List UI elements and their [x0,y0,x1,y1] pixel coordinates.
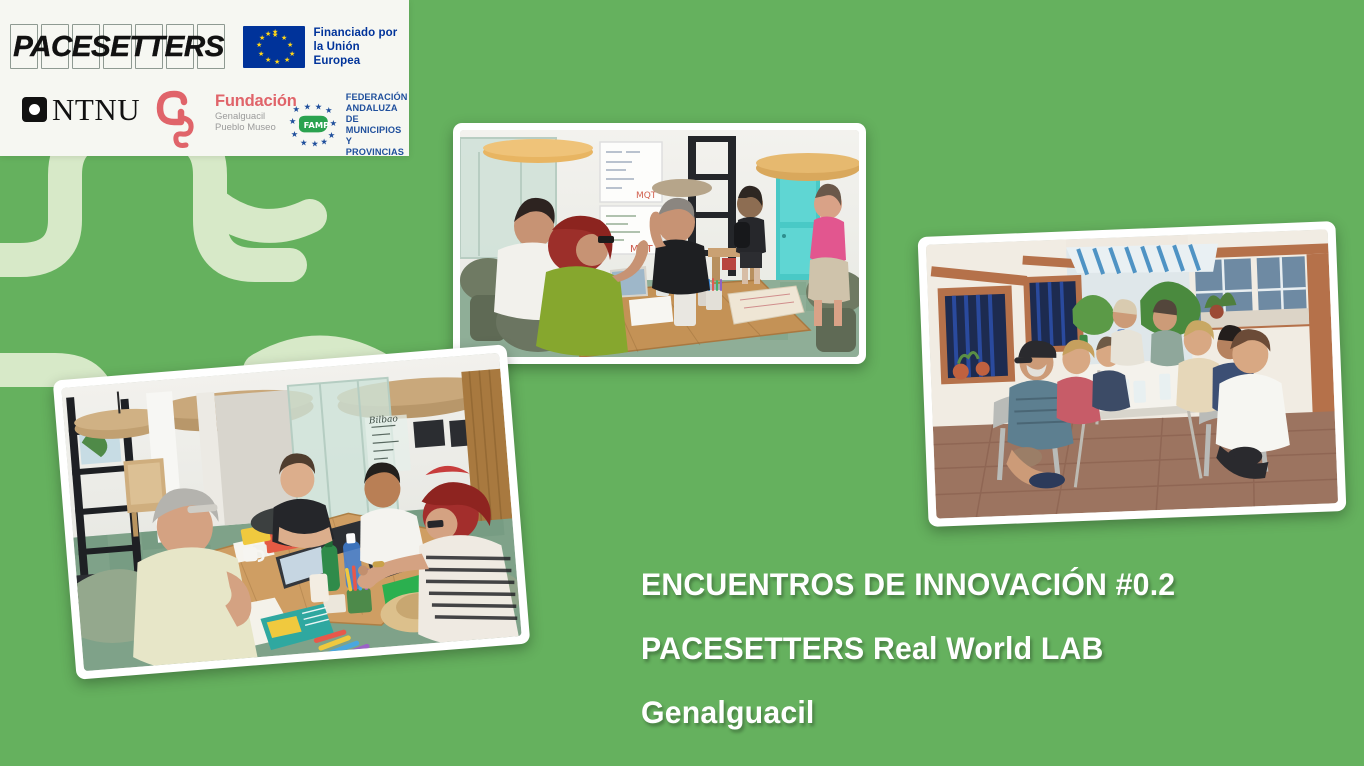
svg-text:★: ★ [330,118,337,128]
eu-funding-logo: ★ ★ ★ ★ ★ ★ ★ ★ ★ ★ ★ ★ Financiado por l… [243,26,409,68]
famp-text: FEDERACIÓN ANDALUZA DE MUNICIPIOS Y PROV… [346,92,409,156]
eu-funding-line-2: la Unión Europea [314,40,409,68]
famp-line-2: ANDALUZA [346,103,409,114]
partner-logo-card: PACESETTERS ★ ★ ★ ★ ★ ★ ★ ★ ★ ★ ★ ★ Fina… [0,0,409,156]
famp-logo: ★ ★ ★ ★ ★ ★ ★ ★ ★ ★ ★ FAMP FEDERACIÓN AN… [287,92,409,156]
famp-line-1: FEDERACIÓN [346,92,409,103]
photo-coworking-table-session-image: Bilbao [61,353,521,671]
page-title: ENCUENTROS DE INNOVACIÓN #0.2 PACESETTER… [641,552,1313,744]
famp-line-3: DE MUNICIPIOS [346,114,409,136]
famp-line-4: Y PROVINCIAS [346,136,409,156]
eu-funding-line-1: Financiado por [314,26,409,40]
ntnu-square-dot-icon [22,97,47,122]
title-line-3: Genalguacil [641,680,1313,744]
svg-text:★: ★ [293,104,300,114]
svg-text:★: ★ [325,105,332,115]
svg-text:★: ★ [315,101,322,111]
ntnu-logo: NTNU [22,94,140,125]
pacesetters-logo: PACESETTERS [10,24,225,69]
fundacion-squiggle-g-icon [150,88,210,150]
svg-text:FAMP: FAMP [304,120,330,130]
svg-text:★: ★ [328,130,335,140]
svg-text:★: ★ [304,101,311,111]
fundacion-text: Fundación Genalguacil Pueblo Museo [215,88,297,133]
photo-outdoor-terrace-session-image [926,229,1338,518]
svg-text:★: ★ [320,136,327,146]
fundacion-line-2: Genalguacil [215,111,297,122]
eu-flag-icon: ★ ★ ★ ★ ★ ★ ★ ★ ★ ★ ★ ★ [243,26,305,68]
svg-text:★: ★ [291,129,298,139]
photo-meeting-room-workshop: MQT MOT [453,123,866,364]
title-line-1: ENCUENTROS DE INNOVACIÓN #0.2 [641,552,1313,616]
fundacion-line-3: Pueblo Museo [215,122,297,133]
pacesetters-wordmark: PACESETTERS [10,28,227,66]
eu-funding-text: Financiado por la Unión Europea [314,26,409,68]
title-line-2: PACESETTERS Real World LAB [641,616,1313,680]
photo-outdoor-terrace-session [918,221,1347,527]
fundacion-genalguacil-logo: Fundación Genalguacil Pueblo Museo [150,88,297,150]
svg-text:MQT: MQT [636,191,657,201]
slide-canvas: PACESETTERS ★ ★ ★ ★ ★ ★ ★ ★ ★ ★ ★ ★ Fina… [0,0,1364,766]
famp-stars-emblem-icon: ★ ★ ★ ★ ★ ★ ★ ★ ★ ★ ★ FAMP [287,100,341,150]
svg-text:★: ★ [311,138,318,148]
fundacion-line-1: Fundación [215,92,297,110]
ntnu-wordmark: NTNU [52,94,140,125]
photo-meeting-room-workshop-image: MQT MOT [460,130,859,357]
svg-text:★: ★ [289,116,296,126]
svg-text:★: ★ [300,137,307,147]
photo-coworking-table-session: Bilbao [53,344,531,680]
